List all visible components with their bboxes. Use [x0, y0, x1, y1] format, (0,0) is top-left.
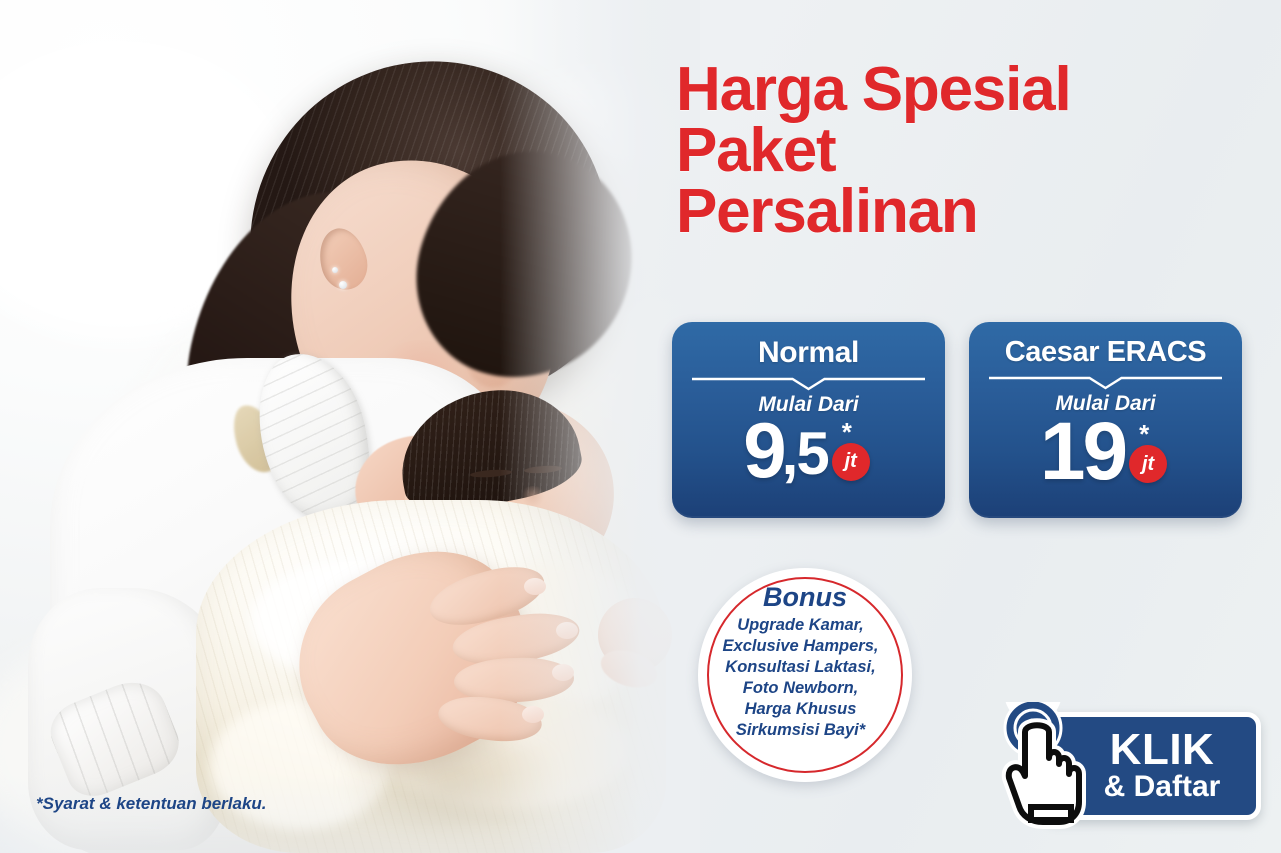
bonus-item: Konsultasi Laktasi,: [685, 657, 917, 678]
bonus-item: Harga Khusus: [685, 699, 917, 720]
asterisk-marker: *: [1139, 421, 1149, 447]
promo-banner: Harga Spesial Paket Persalinan Normal Mu…: [0, 0, 1281, 853]
card-divider: [989, 375, 1222, 391]
footnote-text: *Syarat & ketentuan berlaku.: [36, 794, 267, 814]
package-subtitle: Mulai Dari: [688, 393, 929, 417]
price-main: 19: [1040, 414, 1125, 489]
earring-icon: [332, 267, 338, 273]
package-card-normal[interactable]: Normal Mulai Dari 9 ,5 * jt: [672, 322, 945, 518]
cta-label: KLIK: [1110, 729, 1215, 770]
page-title: Harga Spesial Paket Persalinan: [676, 60, 1196, 242]
price-unit-badge: jt: [1129, 445, 1167, 483]
package-title: Caesar ERACS: [985, 336, 1226, 369]
price-decimal: ,5: [782, 424, 828, 487]
price-unit-badge: jt: [832, 443, 870, 481]
asterisk-marker: *: [842, 419, 852, 445]
bonus-title: Bonus: [763, 584, 847, 611]
hand-pointer-icon: [993, 702, 1097, 834]
package-title: Normal: [688, 336, 929, 370]
package-price: 19 * jt: [985, 414, 1226, 489]
package-card-caesar-eracs[interactable]: Caesar ERACS Mulai Dari 19 * jt: [969, 322, 1242, 518]
bonus-item: Exclusive Hampers,: [685, 636, 917, 657]
bonus-list: Upgrade Kamar, Exclusive Hampers, Konsul…: [685, 615, 917, 741]
hero-photo: [0, 0, 700, 853]
photo-edge-fade: [500, 0, 700, 853]
bonus-item: Sirkumsisi Bayi*: [685, 720, 917, 741]
card-divider: [692, 376, 925, 392]
cta-group[interactable]: KLIK & Daftar: [993, 702, 1261, 834]
bonus-item: Foto Newborn,: [685, 678, 917, 699]
bonus-item: Upgrade Kamar,: [685, 615, 917, 636]
earring-icon: [339, 281, 347, 289]
headline-line-3: Persalinan: [676, 182, 1196, 243]
price-unit-group: * jt: [828, 417, 874, 487]
headline-line-2: Paket: [676, 121, 1196, 182]
price-unit-group: * jt: [1125, 419, 1171, 489]
price-main: 9: [743, 415, 783, 487]
cta-sublabel: & Daftar: [1104, 771, 1221, 803]
headline-line-1: Harga Spesial: [676, 60, 1196, 121]
bonus-badge: Bonus Upgrade Kamar, Exclusive Hampers, …: [698, 568, 912, 782]
package-price: 9 ,5 * jt: [688, 415, 929, 487]
package-cards: Normal Mulai Dari 9 ,5 * jt Caesar ERACS: [672, 322, 1242, 518]
